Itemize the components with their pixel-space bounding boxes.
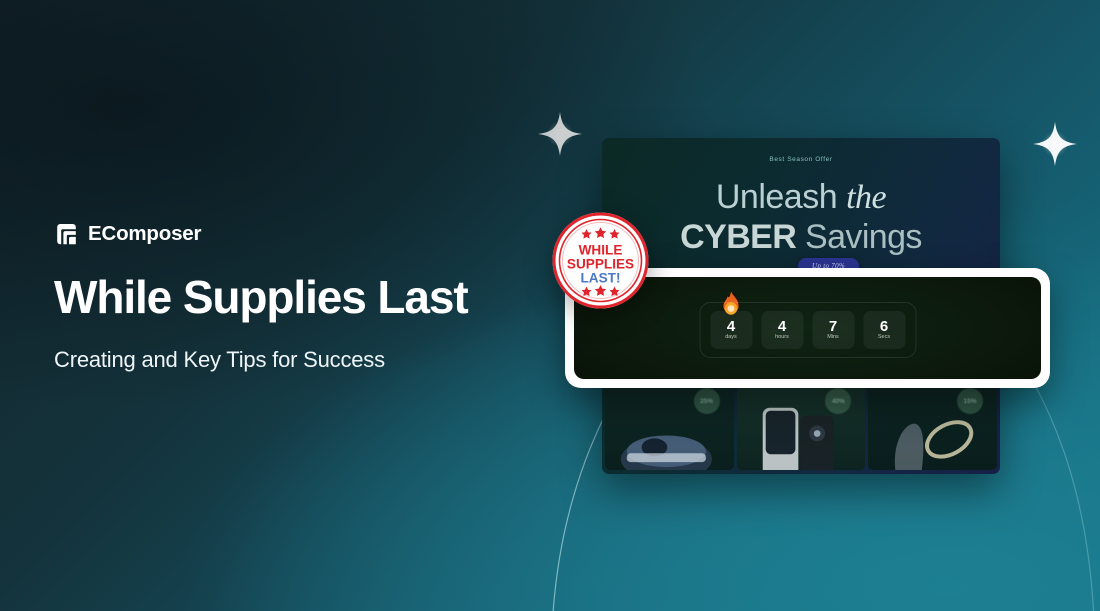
discount-badge: 25% xyxy=(694,388,720,414)
countdown-timer: 4 days 4 hours 7 Mins 6 Secs xyxy=(699,302,916,358)
sparkle-icon xyxy=(1029,118,1081,170)
countdown-label: Mins xyxy=(827,335,839,341)
countdown-value: 4 xyxy=(778,319,786,334)
mockup-heading-line1: Unleash the xyxy=(602,180,1000,216)
page-title: While Supplies Last xyxy=(54,273,574,321)
page-subtitle: Creating and Key Tips for Success xyxy=(54,347,574,373)
hero-banner: EComposer While Supplies Last Creating a… xyxy=(0,0,1100,611)
mockup-product-row: 25% 40% 15% xyxy=(602,382,1000,474)
mockup-heading-line2: CYBER Savings xyxy=(602,220,1000,256)
countdown-unit-mins: 7 Mins xyxy=(812,311,854,349)
mockup-heading-plain: Unleash xyxy=(716,178,846,216)
mockup-eyebrow: Best Season Offer xyxy=(602,156,1000,163)
countdown-value: 7 xyxy=(829,319,837,334)
product-card[interactable]: 25% xyxy=(605,382,734,470)
mockup-heading-light: Savings xyxy=(796,218,922,256)
mockup-heading-bold: CYBER xyxy=(680,218,796,256)
product-card[interactable]: 40% xyxy=(737,382,866,470)
countdown-unit-days: 4 days xyxy=(710,311,752,349)
discount-badge: 15% xyxy=(957,388,983,414)
countdown-label: hours xyxy=(775,335,789,341)
countdown-value: 6 xyxy=(880,319,888,334)
brand-lockup: EComposer xyxy=(54,222,574,247)
brand-name: EComposer xyxy=(88,224,201,245)
seal-line-2: SUPPLIES xyxy=(567,257,634,272)
countdown-label: Secs xyxy=(878,335,890,341)
countdown-unit-hours: 4 hours xyxy=(761,311,803,349)
mockup-heading-italic: the xyxy=(846,179,886,216)
countdown-label: days xyxy=(725,335,737,341)
countdown-value: 4 xyxy=(727,319,735,334)
ecomposer-logo-icon xyxy=(54,222,79,247)
sparkle-icon xyxy=(534,108,586,160)
seal-line-1: WHILE xyxy=(579,243,623,258)
seal-line-3: LAST! xyxy=(580,271,620,286)
hero-text-block: EComposer While Supplies Last Creating a… xyxy=(54,222,574,374)
status-badge: WHILE SUPPLIES LAST! xyxy=(551,211,650,310)
countdown-unit-secs: 6 Secs xyxy=(863,311,905,349)
product-card[interactable]: 15% xyxy=(868,382,997,470)
